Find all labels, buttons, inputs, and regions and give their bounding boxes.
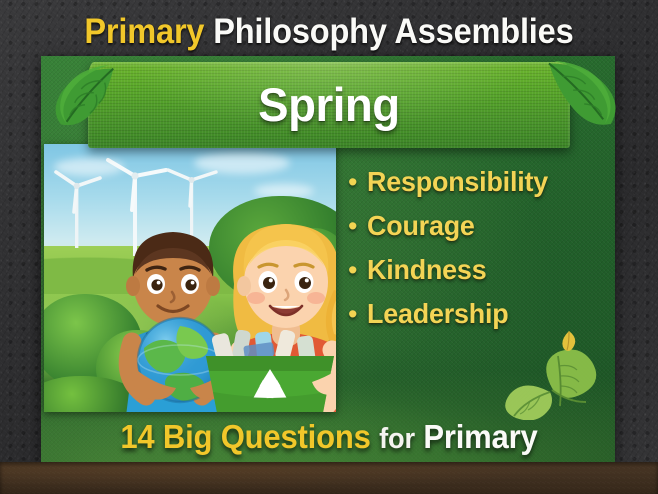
value-responsibility: Responsibility bbox=[367, 166, 548, 197]
bullet-dot-icon: • bbox=[348, 301, 357, 328]
list-item: • Leadership bbox=[348, 298, 610, 329]
value-kindness: Kindness bbox=[367, 254, 486, 285]
poster-canvas: Primary Philosophy Assemblies bbox=[0, 0, 658, 494]
bullet-dot-icon: • bbox=[348, 213, 357, 240]
value-leadership: Leadership bbox=[367, 298, 508, 329]
footer-question-count: 14 Big Questions bbox=[120, 418, 370, 455]
page-title: Primary Philosophy Assemblies bbox=[84, 12, 573, 52]
title-word-philosophy-assemblies: Philosophy Assemblies bbox=[213, 12, 573, 51]
poster-footer: 14 Big Questions for Primary bbox=[0, 413, 658, 463]
list-item: • Responsibility bbox=[348, 166, 610, 197]
list-item: • Kindness bbox=[348, 254, 610, 285]
poster-header: Primary Philosophy Assemblies bbox=[0, 7, 658, 57]
wind-turbine-icon bbox=[50, 162, 104, 248]
footer-tagline: 14 Big Questions for Primary bbox=[120, 418, 537, 458]
title-word-primary: Primary bbox=[84, 12, 204, 51]
value-courage: Courage bbox=[367, 210, 475, 241]
bullet-dot-icon: • bbox=[348, 169, 357, 196]
bullet-dot-icon: • bbox=[348, 257, 357, 284]
values-list: • Responsibility • Courage • Kindness • … bbox=[348, 166, 610, 342]
season-banner: Spring bbox=[88, 62, 570, 148]
season-label: Spring bbox=[258, 79, 399, 131]
bottom-soil-band bbox=[0, 462, 658, 494]
girl-hand bbox=[306, 358, 336, 404]
footer-connector: for bbox=[379, 423, 415, 455]
footer-audience: Primary bbox=[423, 418, 537, 455]
cover-illustration bbox=[44, 144, 336, 412]
list-item: • Courage bbox=[348, 210, 610, 241]
